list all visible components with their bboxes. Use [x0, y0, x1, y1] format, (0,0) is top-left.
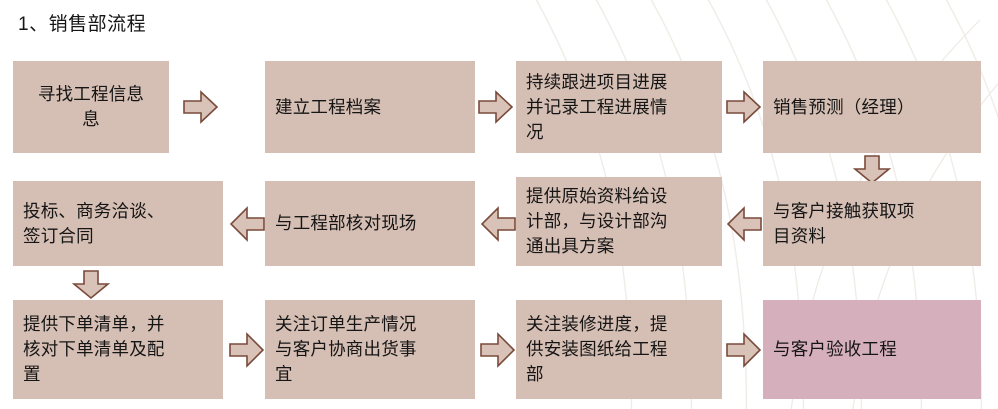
node-create-project-file[interactable]: 建立工程档案 [265, 61, 475, 153]
node-label: 关注订单生产情况 与客户协商出货事 宜 [275, 312, 465, 387]
node-label: 与客户接触获取项 目资料 [773, 199, 971, 249]
arrow-right-r1-c1-c2 [183, 89, 219, 125]
node-supply-data-to-design[interactable]: 提供原始资料给设 计部，与设计部沟 通出具方案 [516, 177, 722, 266]
node-label: 与客户验收工程 [773, 337, 971, 362]
arrow-left-r2-c2-c1 [229, 205, 265, 243]
flowchart-slide: 1、销售部流程 寻找工程信息 息 建立工程档案 持续跟进项目进展 并记录工程进展… [0, 0, 998, 409]
node-follow-order-production[interactable]: 关注订单生产情况 与客户协商出货事 宜 [265, 300, 475, 399]
node-label: 投标、商务洽谈、 签订合同 [23, 199, 213, 249]
node-label: 寻找工程信息 息 [23, 82, 159, 132]
arrow-right-r3-c2-c3 [480, 331, 516, 369]
node-label: 关注装修进度，提 供安装图纸给工程 部 [526, 312, 712, 387]
node-label: 与工程部核对现场 [275, 211, 465, 236]
node-bid-negotiate-contract[interactable]: 投标、商务洽谈、 签订合同 [13, 181, 223, 266]
arrow-left-r2-c4-c3 [726, 205, 762, 243]
arrow-right-r3-c3-c4 [726, 331, 762, 369]
node-sales-forecast-manager[interactable]: 销售预测（经理） [763, 61, 981, 153]
node-verify-site-with-eng[interactable]: 与工程部核对现场 [265, 181, 475, 266]
node-label: 销售预测（经理） [773, 95, 971, 120]
node-provide-order-list[interactable]: 提供下单清单，并 核对下单清单及配 置 [13, 300, 223, 399]
node-label: 提供原始资料给设 计部，与设计部沟 通出具方案 [526, 184, 712, 259]
arrow-left-r2-c3-c2 [480, 205, 516, 243]
node-label: 建立工程档案 [275, 95, 465, 120]
page-title: 1、销售部流程 [18, 12, 146, 38]
arrow-down-c1-r2-r3 [72, 270, 110, 300]
node-client-acceptance[interactable]: 与客户验收工程 [763, 300, 981, 399]
node-follow-decoration[interactable]: 关注装修进度，提 供安装图纸给工程 部 [516, 300, 722, 399]
arrow-right-r3-c1-c2 [229, 331, 265, 369]
arrow-right-r1-c3-c4 [726, 89, 762, 125]
node-contact-client-get-data[interactable]: 与客户接触获取项 目资料 [763, 181, 981, 266]
node-label: 提供下单清单，并 核对下单清单及配 置 [23, 312, 213, 387]
node-label: 持续跟进项目进展 并记录工程进展情 况 [526, 70, 712, 145]
node-find-project-info[interactable]: 寻找工程信息 息 [13, 61, 169, 153]
arrow-right-r1-c2-c3 [478, 89, 514, 125]
node-track-project-progress[interactable]: 持续跟进项目进展 并记录工程进展情 况 [516, 61, 722, 153]
